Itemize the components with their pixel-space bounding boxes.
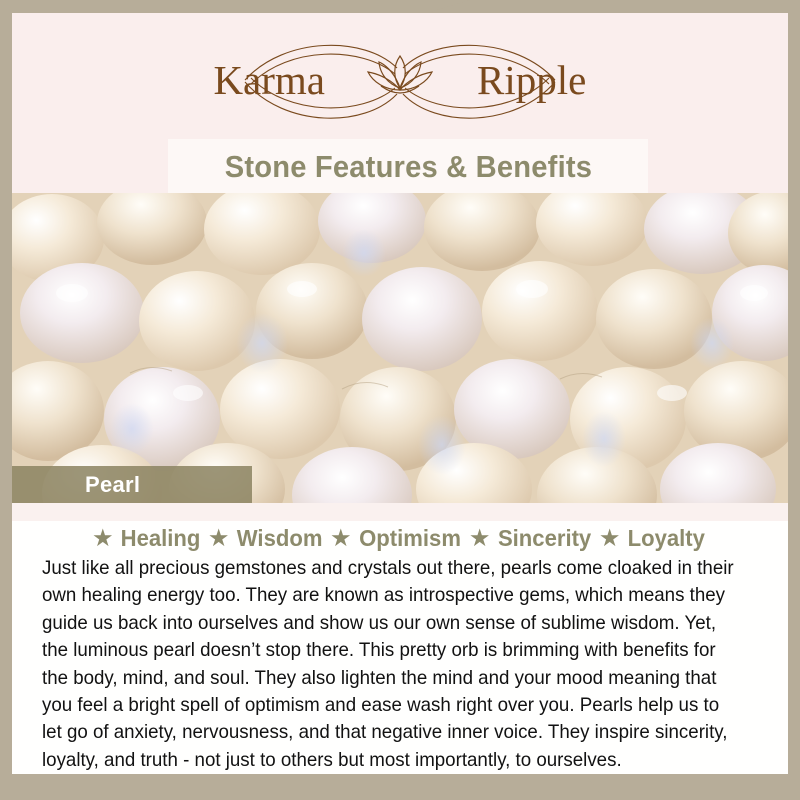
- keyword-loyalty: Loyalty: [628, 525, 705, 552]
- star-icon: ★: [600, 528, 619, 549]
- frame-right-edge: [788, 0, 800, 800]
- keyword-list: ★ Healing ★ Wisdom ★ Optimism ★ Sincerit…: [12, 525, 788, 552]
- brand-logo: Karma Ripple: [12, 33, 788, 128]
- description-text: Just like all precious gemstones and cry…: [42, 555, 743, 774]
- frame-left-edge: [0, 0, 12, 800]
- frame-top-edge: [0, 0, 800, 12]
- infographic-page: Karma Ripple Stone Features & Benefits: [0, 0, 800, 800]
- description-panel: ★ Healing ★ Wisdom ★ Optimism ★ Sincerit…: [12, 503, 788, 774]
- keyword-sincerity: Sincerity: [498, 525, 591, 552]
- pearls-photo: Pearl: [12, 193, 788, 503]
- panel-top-tint: [12, 503, 788, 521]
- brand-name-right: Ripple: [477, 57, 586, 103]
- star-icon: ★: [331, 528, 350, 549]
- section-title-band: Stone Features & Benefits: [168, 139, 648, 195]
- keyword-wisdom: Wisdom: [237, 525, 323, 552]
- pearls-photo-image: [12, 193, 788, 503]
- page-title: Stone Features & Benefits: [224, 149, 591, 185]
- brand-name-left: Karma: [213, 57, 325, 103]
- lotus-icon: Karma Ripple: [185, 38, 615, 124]
- page-content: Karma Ripple Stone Features & Benefits: [12, 13, 788, 774]
- star-icon: ★: [209, 528, 228, 549]
- frame-bottom-edge: [0, 774, 800, 800]
- stone-name: Pearl: [85, 472, 140, 498]
- star-icon: ★: [93, 528, 112, 549]
- keyword-healing: Healing: [121, 525, 201, 552]
- stone-name-banner: Pearl: [12, 466, 252, 503]
- star-icon: ★: [470, 528, 489, 549]
- keyword-optimism: Optimism: [359, 525, 461, 552]
